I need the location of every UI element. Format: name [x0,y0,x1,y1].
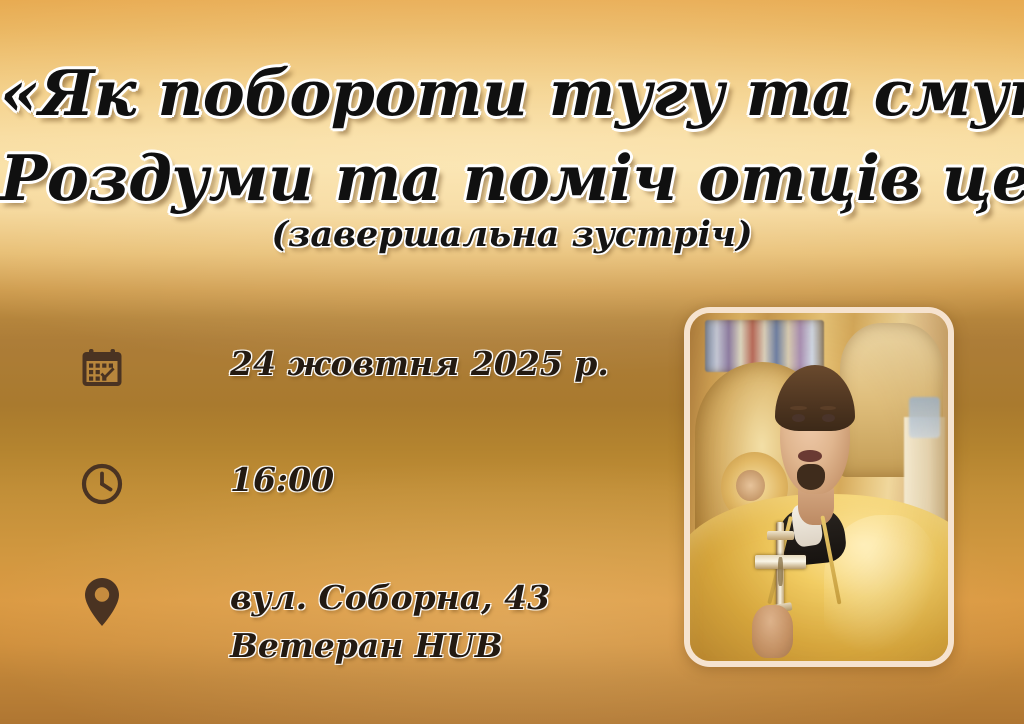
event-details: 24 жовтня 2025 р. 16:00 вул. [72,340,632,670]
event-date-text: 24 жовтня 2025 р. [230,340,609,388]
event-location-line-2: Ветеран HUB [230,622,550,670]
clock-icon [72,456,132,512]
detail-row-time: 16:00 [72,456,632,526]
event-location-text: вул. Соборна, 43 Ветеран HUB [230,574,550,670]
detail-row-date: 24 жовтня 2025 р. [72,340,632,410]
priest-photo-frame [684,307,954,667]
calendar-icon [72,340,132,396]
priest-photo [690,313,948,661]
poster-title-line-1: «Як побороти тугу та смуток? [0,62,1024,125]
location-pin-icon [72,574,132,630]
poster-subtitle: (завершальна зустріч) [0,216,1024,255]
detail-row-location: вул. Соборна, 43 Ветеран HUB [72,574,632,670]
event-poster: «Як побороти тугу та смуток? Роздуми та … [0,0,1024,724]
title-block: «Як побороти тугу та смуток? Роздуми та … [0,62,1024,255]
event-time-text: 16:00 [230,456,334,504]
poster-title-line-2: Роздуми та поміч отців церкви» [0,147,1024,210]
event-location-line-1: вул. Соборна, 43 [230,574,550,622]
photo-vignette [690,313,948,661]
